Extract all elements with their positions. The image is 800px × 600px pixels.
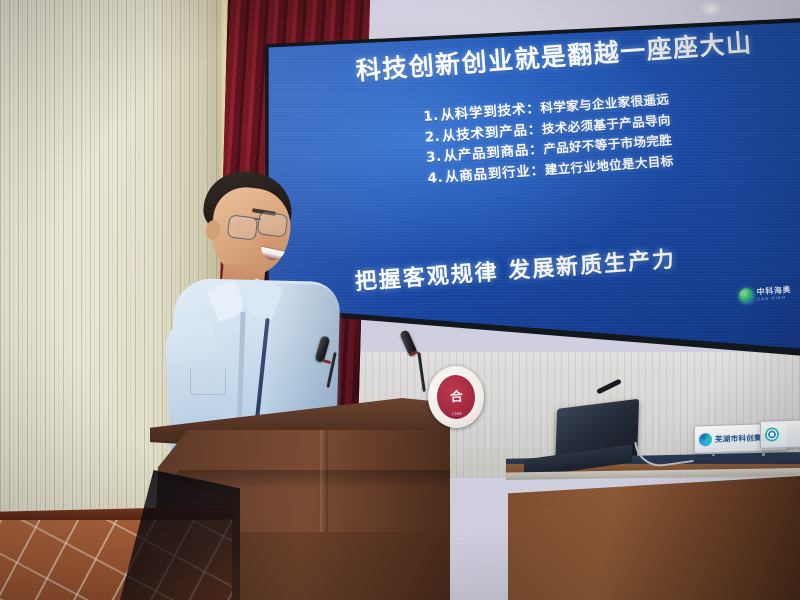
- bullet-number: 2.: [424, 128, 440, 145]
- bullet-number: 3.: [426, 149, 442, 166]
- emblem-inner-disc: 合 1958: [436, 374, 476, 420]
- glasses-icon: [228, 214, 290, 240]
- presentation-photo: 科技创新创业就是翻越一座座大山 1.从科学到技术：科学家与企业家很遥远 2.从技…: [0, 0, 800, 600]
- bullet-lead: 从商品到行业：: [444, 162, 545, 185]
- ceiling-downlight-secondary-icon: [700, 2, 722, 16]
- globe-icon: [738, 288, 754, 304]
- bullet-number: 1.: [423, 108, 439, 125]
- shirt-pocket: [190, 368, 226, 395]
- k-logo-icon: [699, 433, 712, 446]
- emblem-mark: 合: [450, 390, 463, 404]
- projection-screen: 科技创新创业就是翻越一座座大山 1.从科学到技术：科学家与企业家很遥远 2.从技…: [266, 20, 800, 364]
- slide-bullet-list: 1.从科学到技术：科学家与企业家很遥远 2.从技术到产品：技术必须基于产品导向 …: [423, 80, 800, 189]
- slide-footer-slogan: 把握客观规律 发展新质生产力: [354, 234, 785, 297]
- logo-english-name: CAS-HIAO: [757, 295, 792, 302]
- desk-sign-secondary: [760, 419, 800, 449]
- conference-table-body: [508, 476, 800, 600]
- wave-logo-icon: [765, 427, 779, 441]
- glasses-lens-right: [257, 211, 289, 237]
- slide-corner-logo: 中科海奥 CAS-HIAO: [738, 285, 791, 304]
- slide-content: 科技创新创业就是翻越一座座大山 1.从科学到技术：科学家与企业家很遥远 2.从技…: [266, 20, 800, 363]
- emblem-year: 1958: [438, 410, 476, 417]
- bullet-number: 4.: [427, 169, 443, 186]
- logo-text-block: 中科海奥 CAS-HIAO: [756, 286, 791, 302]
